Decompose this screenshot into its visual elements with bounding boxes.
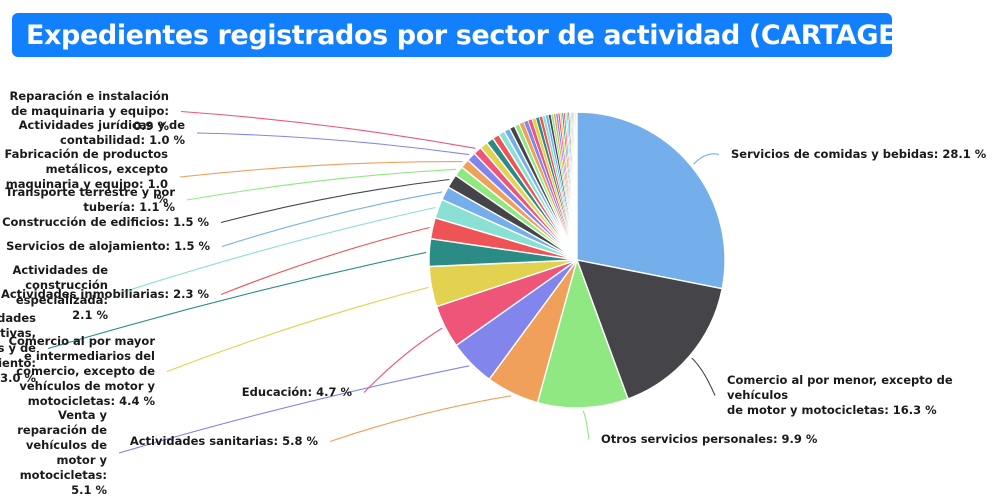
callout-leader-line	[694, 154, 719, 164]
callout-leader-line	[222, 192, 442, 247]
callout-leader-line	[180, 162, 463, 177]
callout-leader-line	[692, 358, 715, 395]
callout-leader-line	[330, 396, 511, 442]
pie-callout-label: Educación: 4.7 %	[242, 385, 352, 400]
pie-slices-group	[429, 112, 725, 408]
pie-callout-label: Venta y reparación de vehículos de motor…	[0, 408, 107, 498]
pie-callout-label: Otros servicios personales: 9.9 %	[601, 432, 817, 447]
pie-slice[interactable]	[577, 112, 725, 289]
pie-callout-label: Servicios de alojamiento: 1.5 %	[6, 239, 210, 254]
callout-leader-line	[187, 169, 456, 200]
callout-leader-line	[181, 112, 475, 149]
page-title-banner: Expedientes registrados por sector de ac…	[12, 13, 892, 57]
callout-leader-line	[583, 411, 589, 440]
pie-callout-label: Construcción de edificios: 1.5 %	[2, 215, 209, 230]
pie-chart-container: Servicios de comidas y bebidas: 28.1 %Co…	[0, 62, 992, 466]
pie-callout-label: Comercio al por menor, excepto de vehícu…	[727, 373, 992, 418]
pie-callout-label: Actividades de construcción especializad…	[0, 263, 108, 323]
callout-leader-line	[364, 328, 442, 392]
pie-callout-label: Actividades sanitarias: 5.8 %	[130, 434, 318, 449]
pie-callout-label: Servicios de comidas y bebidas: 28.1 %	[731, 147, 986, 162]
callout-leader-line	[197, 133, 469, 155]
pie-callout-label: Reparación e instalación de maquinaria y…	[0, 89, 169, 134]
page-title: Expedientes registrados por sector de ac…	[26, 20, 951, 51]
pie-callout-label: Fabricación de productos metálicos, exce…	[0, 147, 168, 207]
callout-leader-line	[221, 180, 449, 223]
